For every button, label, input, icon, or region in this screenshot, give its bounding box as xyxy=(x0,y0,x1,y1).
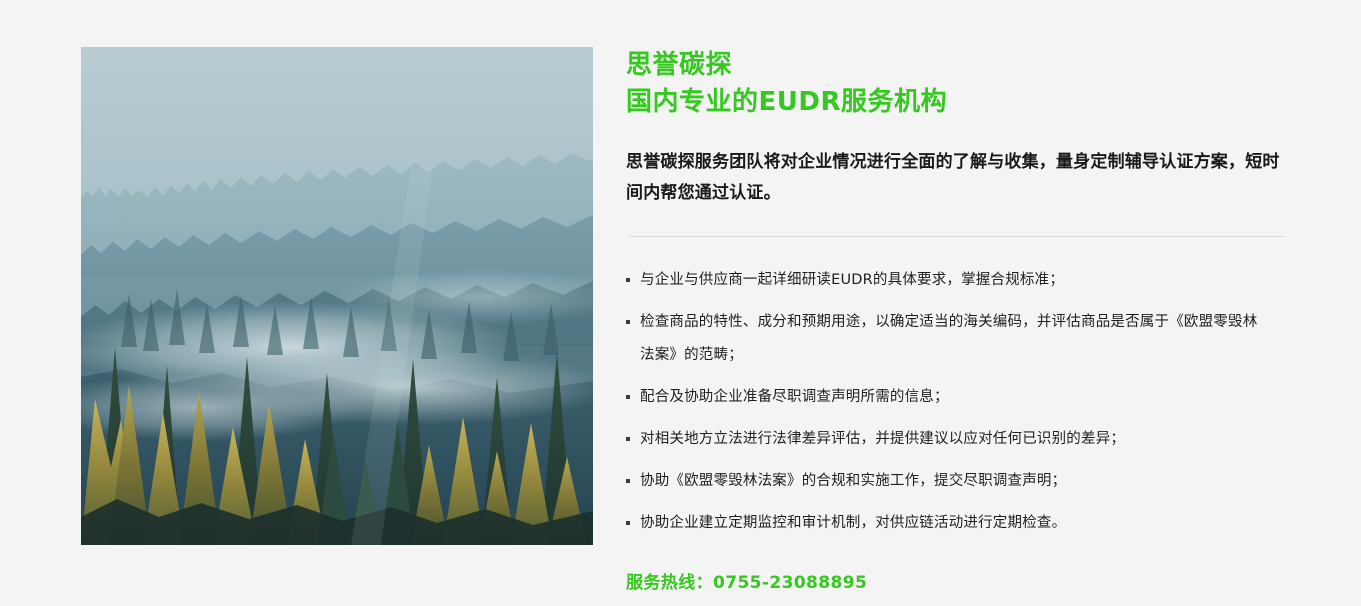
page-title: 思誉碳探 国内专业的EUDR服务机构 xyxy=(626,47,1286,121)
square-bullet-icon xyxy=(626,320,630,324)
forest-landscape-illustration xyxy=(81,47,593,545)
list-item: 检查商品的特性、成分和预期用途，以确定适当的海关编码，并评估商品是否属于《欧盟零… xyxy=(626,306,1265,372)
service-list: 与企业与供应商一起详细研读EUDR的具体要求，掌握合规标准； 检查商品的特性、成… xyxy=(626,264,1286,540)
list-item-label: 协助《欧盟零毁林法案》的合规和实施工作，提交尽职调查声明； xyxy=(640,473,1066,489)
square-bullet-icon xyxy=(626,395,630,399)
service-hotline[interactable]: 服务热线：0755-23088895 xyxy=(626,568,1286,593)
square-bullet-icon xyxy=(626,479,630,483)
list-item: 对相关地方立法进行法律差异评估，并提供建议以应对任何已识别的差异； xyxy=(626,423,1265,456)
page-title-line-2: 国内专业的EUDR服务机构 xyxy=(626,84,1286,121)
list-item: 与企业与供应商一起详细研读EUDR的具体要求，掌握合规标准； xyxy=(626,264,1265,297)
list-item-label: 对相关地方立法进行法律差异评估，并提供建议以应对任何已识别的差异； xyxy=(640,431,1125,447)
list-item-label: 与企业与供应商一起详细研读EUDR的具体要求，掌握合规标准； xyxy=(640,272,1064,288)
list-item-label: 配合及协助企业准备尽职调查声明所需的信息； xyxy=(640,389,949,405)
section-divider xyxy=(629,236,1284,237)
square-bullet-icon xyxy=(626,521,630,525)
content-column: 思誉碳探 国内专业的EUDR服务机构 思誉碳探服务团队将对企业情况进行全面的了解… xyxy=(626,47,1286,593)
forest-landscape-image xyxy=(81,47,593,545)
list-item-label: 检查商品的特性、成分和预期用途，以确定适当的海关编码，并评估商品是否属于《欧盟零… xyxy=(640,314,1257,363)
square-bullet-icon xyxy=(626,278,630,282)
list-item: 协助企业建立定期监控和审计机制，对供应链活动进行定期检查。 xyxy=(626,507,1265,540)
page-root: 思誉碳探 国内专业的EUDR服务机构 思誉碳探服务团队将对企业情况进行全面的了解… xyxy=(0,0,1361,606)
list-item-label: 协助企业建立定期监控和审计机制，对供应链活动进行定期检查。 xyxy=(640,515,1066,531)
list-item: 协助《欧盟零毁林法案》的合规和实施工作，提交尽职调查声明； xyxy=(626,465,1265,498)
list-item: 配合及协助企业准备尽职调查声明所需的信息； xyxy=(626,381,1265,414)
page-title-line-1: 思誉碳探 xyxy=(626,47,1286,84)
square-bullet-icon xyxy=(626,437,630,441)
subtitle-text: 思誉碳探服务团队将对企业情况进行全面的了解与收集，量身定制辅导认证方案，短时间内… xyxy=(626,147,1281,210)
